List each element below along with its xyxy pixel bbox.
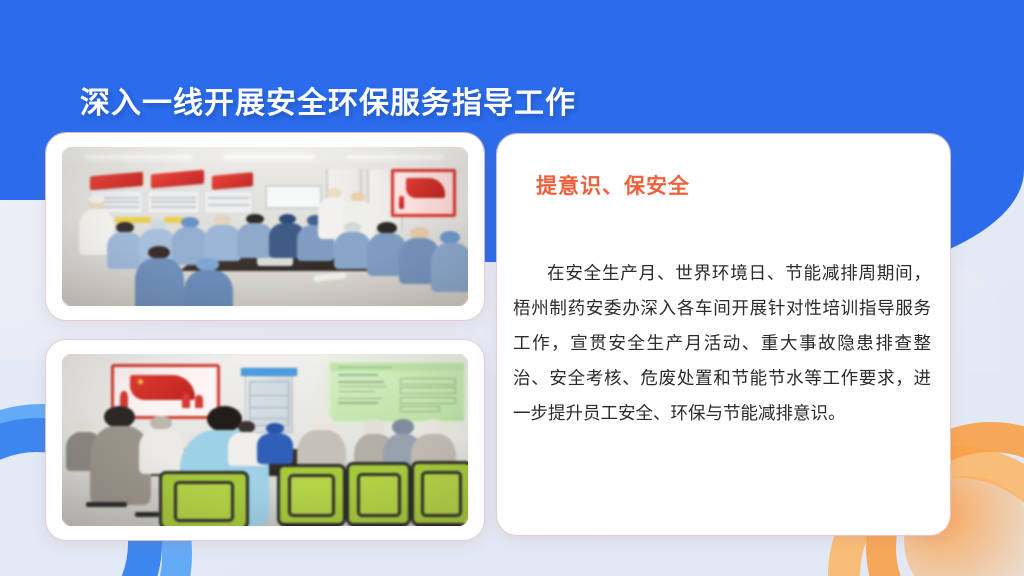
photo-card-meeting-room (46, 133, 484, 320)
text-card-heading: 提意识、保安全 (536, 170, 690, 200)
text-card-body: 在安全生产月、世界环境日、节能减排周期间，梧州制药安委办深入各车间开展针对性培训… (513, 256, 931, 431)
slide-canvas: 深入一线开展安全环保服务指导工作 (0, 0, 1024, 576)
photo-training-room: ★ (62, 354, 468, 526)
text-content-card: 提意识、保安全 在安全生产月、世界环境日、节能减排周期间，梧州制药安委办深入各车… (497, 134, 950, 535)
page-title: 深入一线开展安全环保服务指导工作 (80, 78, 576, 122)
photo-card-training-room: ★ (46, 340, 484, 540)
photo-meeting-room (62, 147, 468, 306)
